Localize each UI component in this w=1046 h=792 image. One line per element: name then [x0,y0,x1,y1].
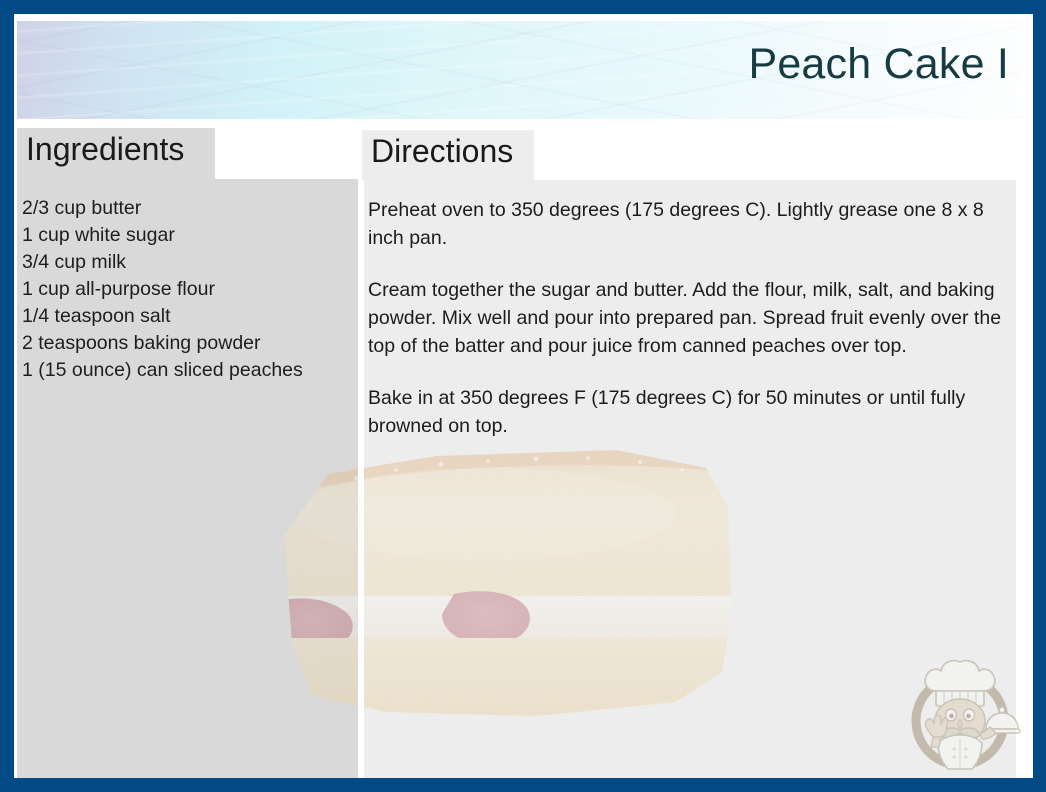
directions-heading: Directions [371,135,513,167]
slide-frame: Peach Cake I Ingredients 2/3 cup butter … [0,0,1046,792]
ingredients-heading: Ingredients [26,133,184,165]
list-item: 3/4 cup milk [22,249,352,276]
list-item: 1 cup white sugar [22,222,352,249]
chef-mascot-logo [898,651,1022,775]
directions-paragraph: Bake in at 350 degrees F (175 degrees C)… [368,384,1008,440]
list-item: 2 teaspoons baking powder [22,330,352,357]
directions-body: Preheat oven to 350 degrees (175 degrees… [368,196,1008,464]
ingredients-list: 2/3 cup butter 1 cup white sugar 3/4 cup… [22,195,352,384]
list-item: 1 cup all-purpose flour [22,276,352,303]
page-title: Peach Cake I [748,42,1009,87]
panel-separator [358,180,364,778]
directions-paragraph: Preheat oven to 350 degrees (175 degrees… [368,196,1008,252]
list-item: 1 (15 ounce) can sliced peaches [22,357,352,384]
list-item: 1/4 teaspoon salt [22,303,352,330]
directions-paragraph: Cream together the sugar and butter. Add… [368,276,1008,360]
slide-canvas: Peach Cake I Ingredients 2/3 cup butter … [14,14,1033,778]
list-item: 2/3 cup butter [22,195,352,222]
